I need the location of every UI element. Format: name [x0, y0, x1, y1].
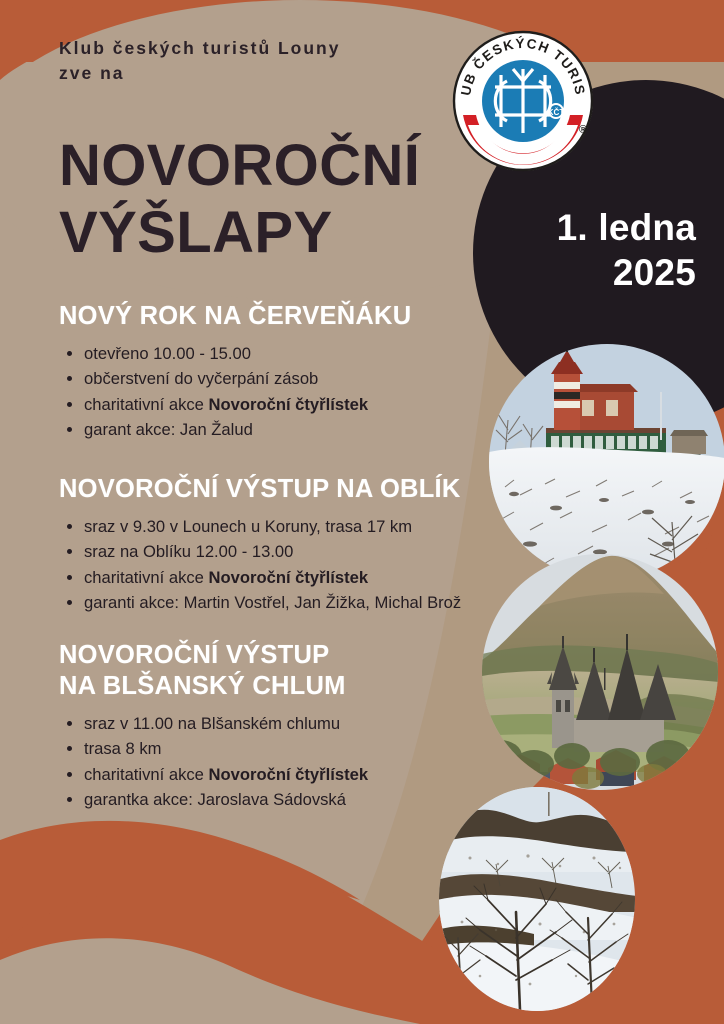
- bullet-text: občerstvení do vyčerpání zásob: [84, 369, 318, 388]
- list-item: charitativní akce Novoroční čtyřlístek: [59, 762, 368, 787]
- section-heading: NOVÝ ROK NA ČERVEŇÁKU: [59, 301, 411, 332]
- list-item: garant akce: Jan Žalud: [59, 417, 411, 442]
- bullet-text: charitativní akce: [84, 395, 209, 414]
- bullet-text: sraz na Oblíku 12.00 - 13.00: [84, 542, 293, 561]
- list-item: charitativní akce Novoroční čtyřlístek: [59, 392, 411, 417]
- section-oblik: NOVOROČNÍ VÝSTUP NA OBLÍK sraz v 9.30 v …: [59, 474, 461, 615]
- kct-monogram-mark: KČT: [548, 108, 565, 117]
- registered-mark: ®: [579, 124, 587, 136]
- organizer-kicker: Klub českých turistů Louny zve na: [59, 36, 459, 86]
- title-line-1: NOVOROČNÍ: [59, 133, 420, 198]
- kicker-line-1: Klub českých turistů Louny: [59, 36, 459, 61]
- section-bullets: sraz v 9.30 v Lounech u Koruny, trasa 17…: [59, 514, 461, 615]
- bullet-text: garant akce: Jan Žalud: [84, 420, 253, 439]
- section-heading: NOVOROČNÍ VÝSTUP NA OBLÍK: [59, 474, 461, 505]
- bullet-text: garanti akce: Martin Vostřel, Jan Žižka,…: [84, 593, 461, 612]
- title-line-2: VÝŠLAPY: [59, 205, 479, 262]
- bullet-text: garantka akce: Jaroslava Sádovská: [84, 790, 346, 809]
- bullet-text: charitativní akce: [84, 765, 209, 784]
- date-line-2: 2025: [500, 250, 696, 295]
- list-item: sraz v 9.30 v Lounech u Koruny, trasa 17…: [59, 514, 461, 539]
- page-title: NOVOROČNÍ VÝŠLAPY: [59, 138, 479, 262]
- event-date: 1. ledna 2025: [500, 205, 696, 295]
- bullet-text: charitativní akce: [84, 568, 209, 587]
- kicker-line-2: zve na: [59, 61, 459, 86]
- bullet-bold: Novoroční čtyřlístek: [209, 395, 369, 414]
- list-item: sraz na Oblíku 12.00 - 13.00: [59, 539, 461, 564]
- section-heading-line-2: NA BLŠANSKÝ CHLUM: [59, 671, 368, 702]
- bullet-bold: Novoroční čtyřlístek: [209, 765, 369, 784]
- section-bullets: otevřeno 10.00 - 15.00 občerstvení do vy…: [59, 341, 411, 442]
- bullet-text: sraz v 9.30 v Lounech u Koruny, trasa 17…: [84, 517, 412, 536]
- section-blsansky-chlum: NOVOROČNÍ VÝSTUP NA BLŠANSKÝ CHLUM sraz …: [59, 640, 368, 812]
- list-item: garanti akce: Martin Vostřel, Jan Žižka,…: [59, 590, 461, 615]
- section-cervenak: NOVÝ ROK NA ČERVEŇÁKU otevřeno 10.00 - 1…: [59, 301, 411, 442]
- bullet-text: trasa 8 km: [84, 739, 161, 758]
- list-item: garantka akce: Jaroslava Sádovská: [59, 787, 368, 812]
- poster: Klub českých turistů Louny zve na KLUB Č…: [0, 0, 724, 1024]
- list-item: otevřeno 10.00 - 15.00: [59, 341, 411, 366]
- date-line-1: 1. ledna: [557, 207, 696, 248]
- bullet-text: sraz v 11.00 na Blšanském chlumu: [84, 714, 340, 733]
- list-item: trasa 8 km: [59, 736, 368, 761]
- section-bullets: sraz v 11.00 na Blšanském chlumu trasa 8…: [59, 711, 368, 812]
- list-item: občerstvení do vyčerpání zásob: [59, 366, 411, 391]
- list-item: sraz v 11.00 na Blšanském chlumu: [59, 711, 368, 736]
- bullet-bold: Novoroční čtyřlístek: [209, 568, 369, 587]
- section-heading-line-1: NOVOROČNÍ VÝSTUP: [59, 640, 368, 671]
- list-item: charitativní akce Novoroční čtyřlístek: [59, 565, 461, 590]
- bullet-text: otevřeno 10.00 - 15.00: [84, 344, 251, 363]
- section-heading: NOVOROČNÍ VÝSTUP NA BLŠANSKÝ CHLUM: [59, 640, 368, 702]
